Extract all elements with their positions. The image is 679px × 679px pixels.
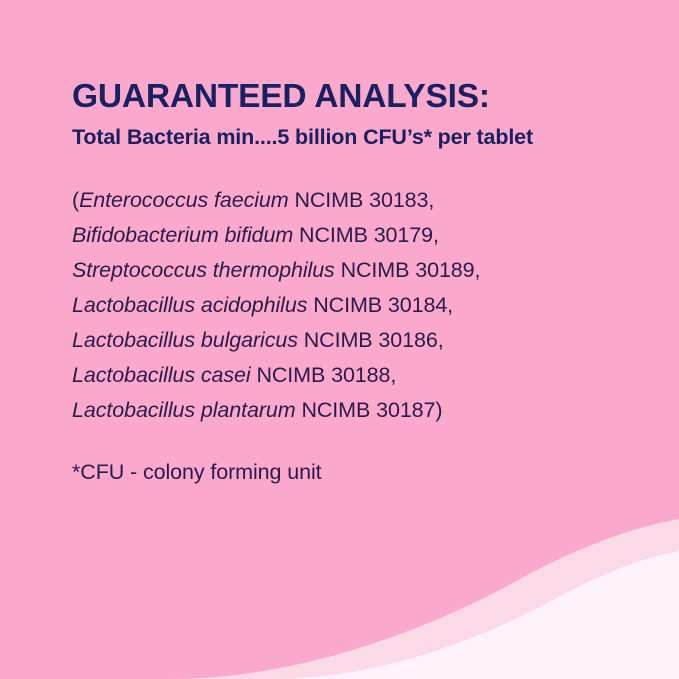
label-content: GUARANTEED ANALYSIS: Total Bacteria min.… [72, 78, 642, 508]
cfu-footnote: *CFU - colony forming unit [72, 460, 642, 486]
guaranteed-analysis-panel: GUARANTEED ANALYSIS: Total Bacteria min.… [0, 0, 679, 679]
species-row: Lactobacillus plantarum NCIMB 30187) [72, 393, 642, 428]
list-separator: , [475, 258, 481, 282]
species-strain-code: NCIMB 30184 [313, 293, 447, 317]
species-name: Lactobacillus acidophilus [72, 293, 307, 317]
species-row: (Enterococcus faecium NCIMB 30183, [72, 183, 642, 218]
list-separator: , [438, 328, 444, 352]
total-bacteria-statement: Total Bacteria min....5 billion CFU’s* p… [72, 125, 642, 151]
species-list: (Enterococcus faecium NCIMB 30183,Bifido… [72, 183, 642, 428]
species-name: Streptococcus thermophilus [72, 258, 335, 282]
list-separator: , [390, 363, 396, 387]
species-row: Lactobacillus acidophilus NCIMB 30184, [72, 288, 642, 323]
species-row: Streptococcus thermophilus NCIMB 30189, [72, 253, 642, 288]
list-separator: , [433, 223, 439, 247]
swoosh-band-inner [270, 551, 679, 679]
swoosh-decoration [0, 479, 679, 679]
species-strain-code: NCIMB 30186 [304, 328, 438, 352]
species-name: Lactobacillus casei [72, 363, 251, 387]
swoosh-band-outer [170, 519, 679, 679]
species-name: Bifidobacterium bifidum [72, 223, 293, 247]
species-strain-code: NCIMB 30187 [301, 398, 435, 422]
species-name: Enterococcus faecium [79, 188, 289, 212]
species-row: Lactobacillus bulgaricus NCIMB 30186, [72, 323, 642, 358]
species-strain-code: NCIMB 30189 [341, 258, 475, 282]
open-paren: ( [72, 188, 79, 212]
species-name: Lactobacillus bulgaricus [72, 328, 298, 352]
species-row: Lactobacillus casei NCIMB 30188, [72, 358, 642, 393]
species-strain-code: NCIMB 30188 [256, 363, 390, 387]
list-separator: , [428, 188, 434, 212]
list-separator: , [447, 293, 453, 317]
species-strain-code: NCIMB 30179 [299, 223, 433, 247]
close-paren: ) [435, 398, 442, 422]
page-title: GUARANTEED ANALYSIS: [72, 78, 642, 116]
species-strain-code: NCIMB 30183 [294, 188, 428, 212]
species-row: Bifidobacterium bifidum NCIMB 30179, [72, 218, 642, 253]
species-name: Lactobacillus plantarum [72, 398, 296, 422]
